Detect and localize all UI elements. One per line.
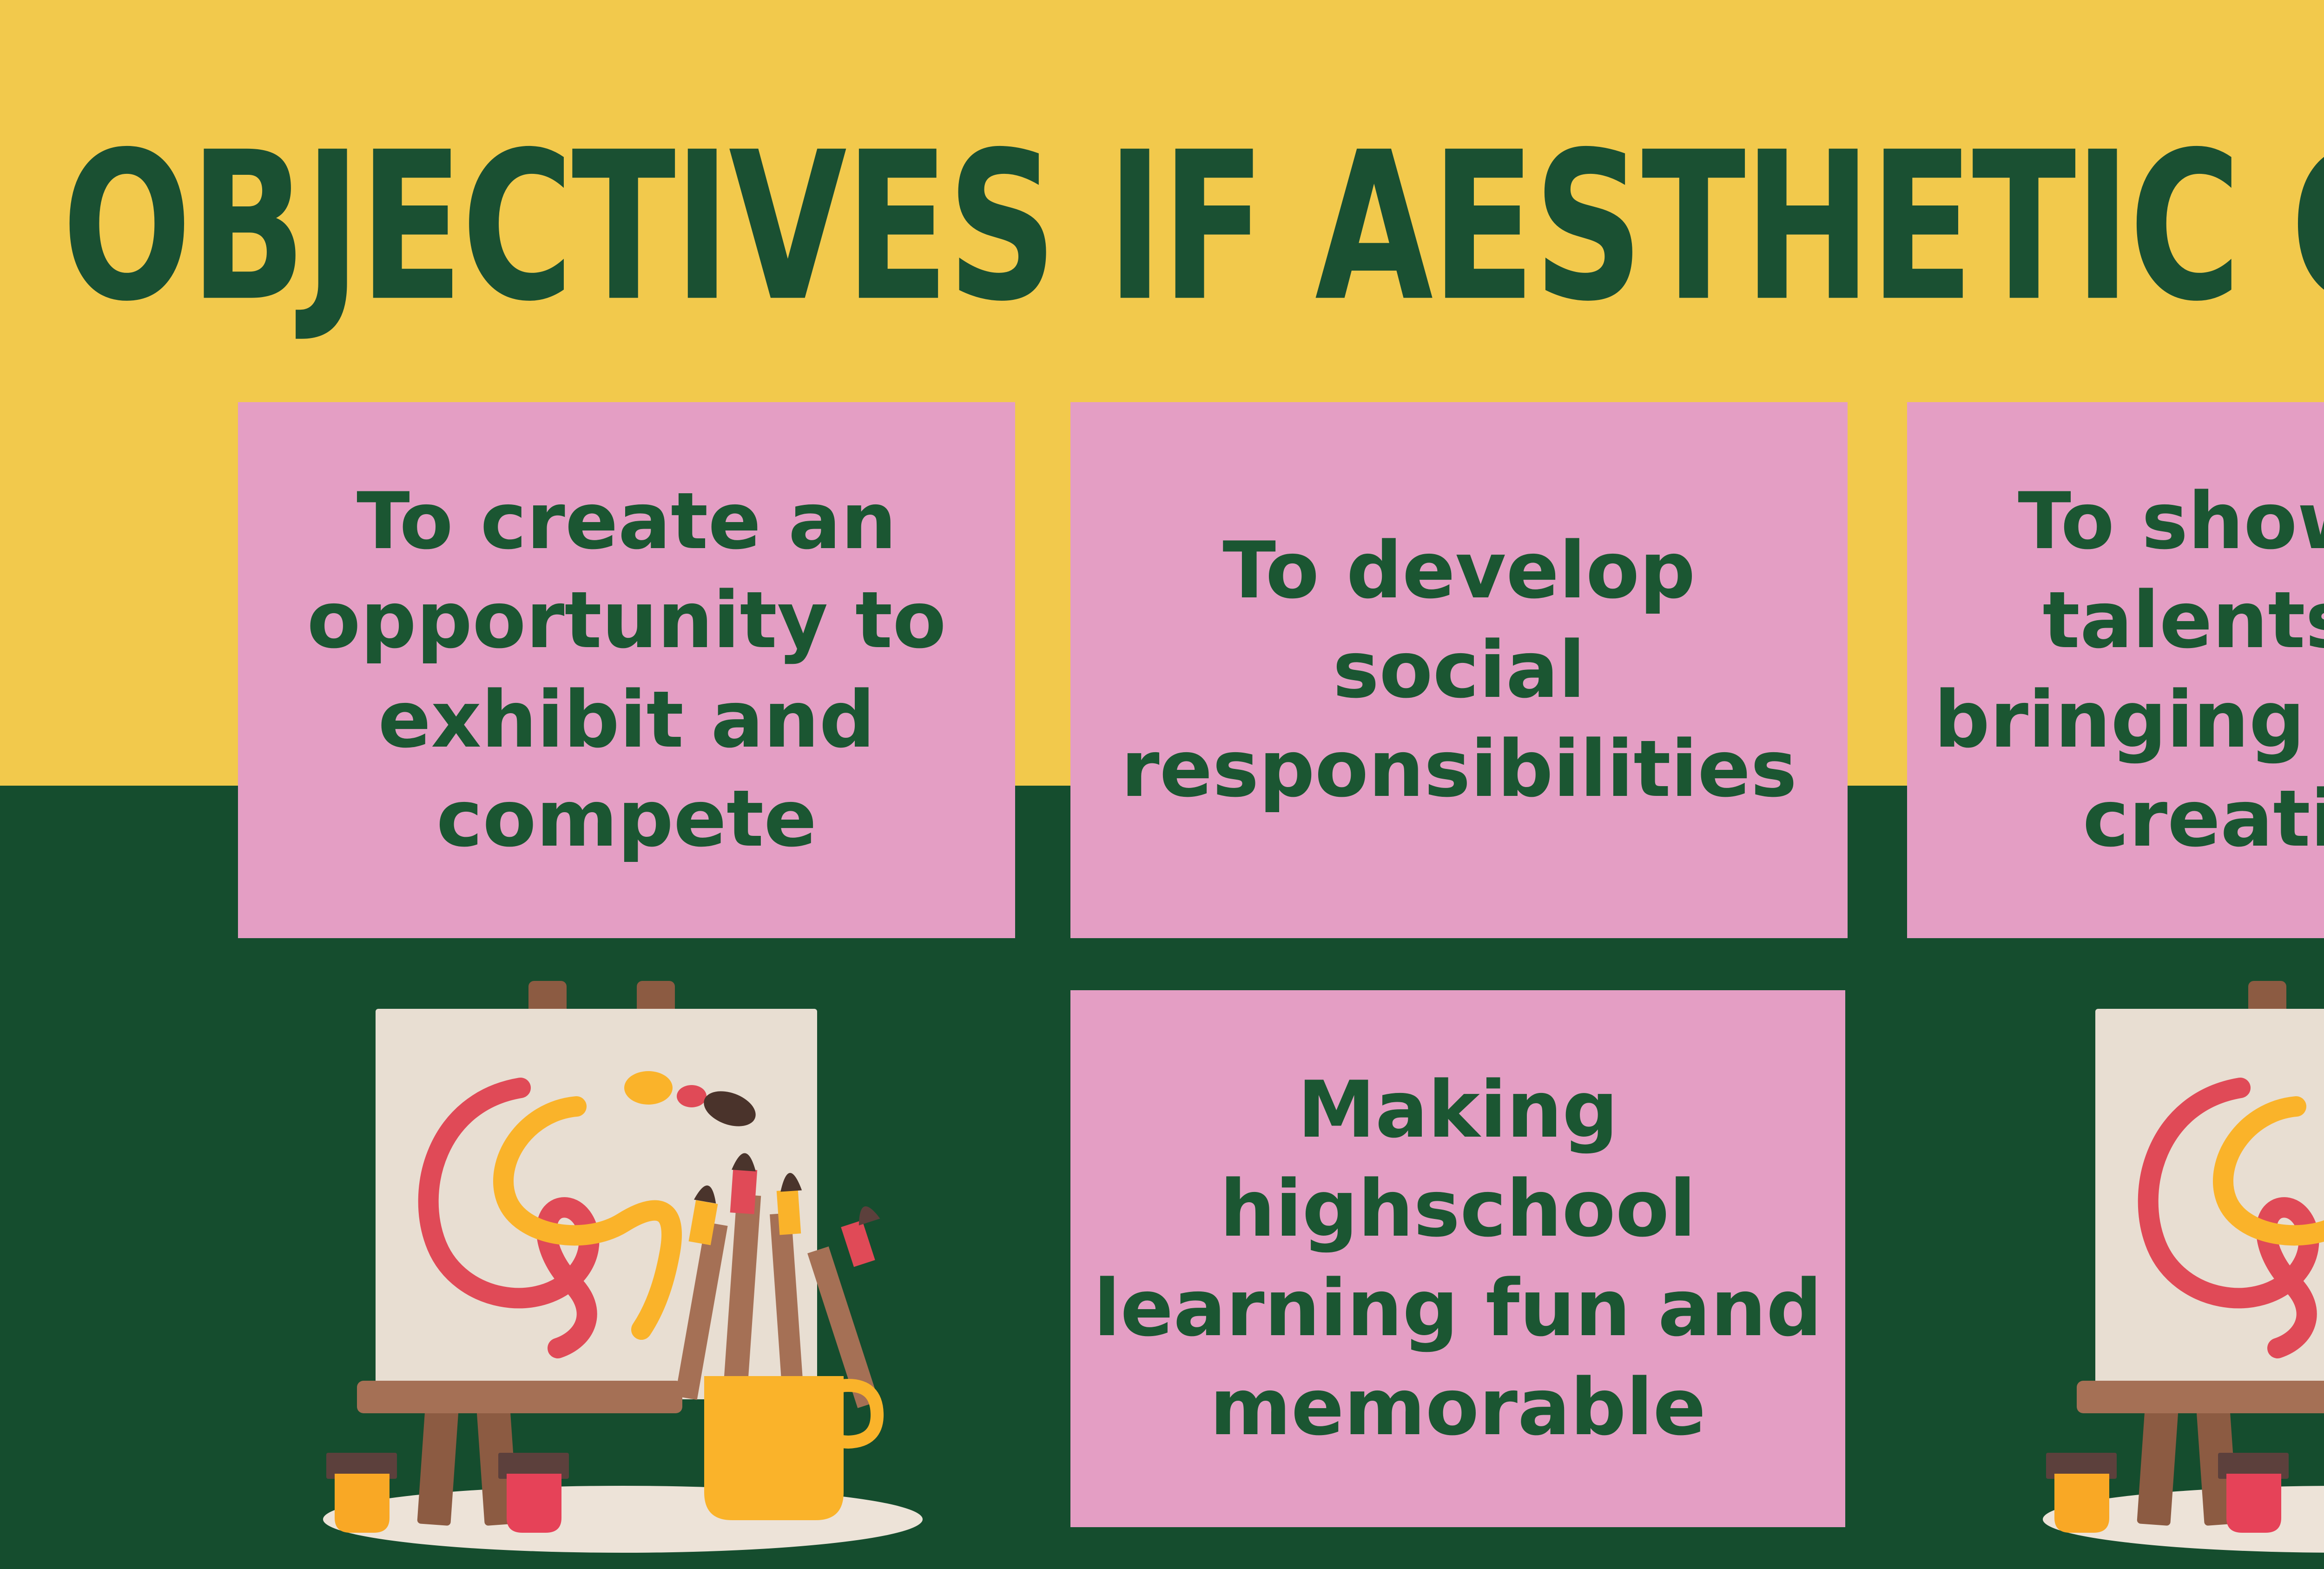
paint-jar-yellow bbox=[326, 1453, 397, 1533]
paint-jar-red bbox=[2218, 1453, 2289, 1533]
objective-card-4-text: Making highschool learning fun and memor… bbox=[1093, 1060, 1823, 1457]
objective-card-2-text: To develop social responsibilities bbox=[1093, 521, 1825, 819]
red-paint-dot bbox=[677, 1085, 706, 1107]
objective-card-3[interactable]: To showcase talents and bringing out the… bbox=[1907, 402, 2324, 938]
page-title: OBJECTIVES IF AESTHETIC CLUB bbox=[0, 126, 2324, 330]
poster-canvas: OBJECTIVES IF AESTHETIC CLUB bbox=[0, 0, 2324, 1569]
easel-ledge bbox=[2077, 1381, 2324, 1413]
easel-illustration-left bbox=[297, 948, 948, 1567]
objective-card-1[interactable]: To create an opportunity to exhibit and … bbox=[238, 402, 1015, 938]
objective-card-1-text: To create an opportunity to exhibit and … bbox=[260, 472, 993, 868]
mug-body bbox=[704, 1376, 844, 1520]
objective-card-3-text: To showcase talents and bringing out the… bbox=[1929, 472, 2324, 868]
objective-card-4[interactable]: Making highschool learning fun and memor… bbox=[1070, 990, 1845, 1527]
paint-jar-red bbox=[498, 1453, 569, 1533]
yellow-paint-dot bbox=[624, 1071, 673, 1105]
paint-jar-yellow bbox=[2046, 1453, 2117, 1533]
easel-illustration-right bbox=[2017, 948, 2324, 1567]
objective-card-2[interactable]: To develop social responsibilities bbox=[1070, 402, 1848, 938]
easel-ledge bbox=[357, 1381, 682, 1413]
